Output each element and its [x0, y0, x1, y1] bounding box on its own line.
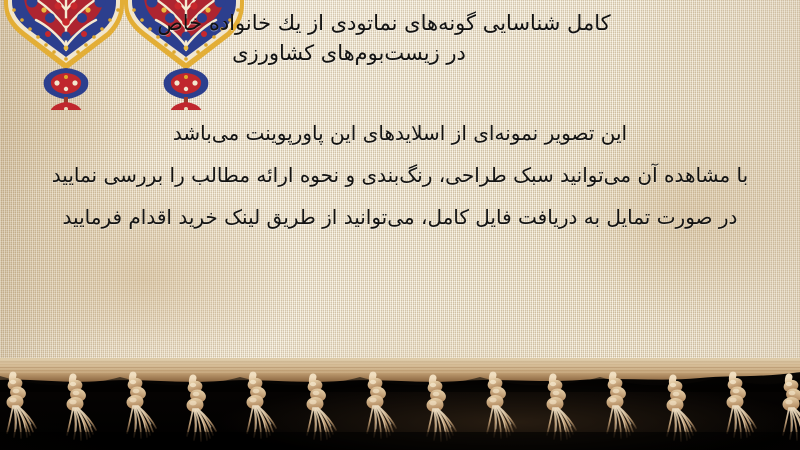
- title-line-1: کامل شناسایی گونه‌های نماتودی از یك خانو…: [8, 8, 800, 38]
- slide-title: کامل شناسایی گونه‌های نماتودی از یك خانو…: [0, 8, 800, 68]
- body-line-3: در صورت تمایل به دریافت فایل کامل، می‌تو…: [0, 196, 800, 238]
- slide-body: این تصویر نمونه‌ای از اسلایدهای این پاور…: [0, 112, 800, 238]
- slide-canvas: کامل شناسایی گونه‌های نماتودی از یك خانو…: [0, 0, 800, 450]
- body-line-2: با مشاهده آن می‌توانید سبک طراحی، رنگ‌بن…: [0, 154, 800, 196]
- body-line-1: این تصویر نمونه‌ای از اسلایدهای این پاور…: [0, 112, 800, 154]
- title-line-2: در زیست‌بوم‌های کشاورزی: [8, 38, 800, 68]
- carpet-fringe: [0, 358, 800, 450]
- fringe-tassels-icon: [0, 358, 800, 450]
